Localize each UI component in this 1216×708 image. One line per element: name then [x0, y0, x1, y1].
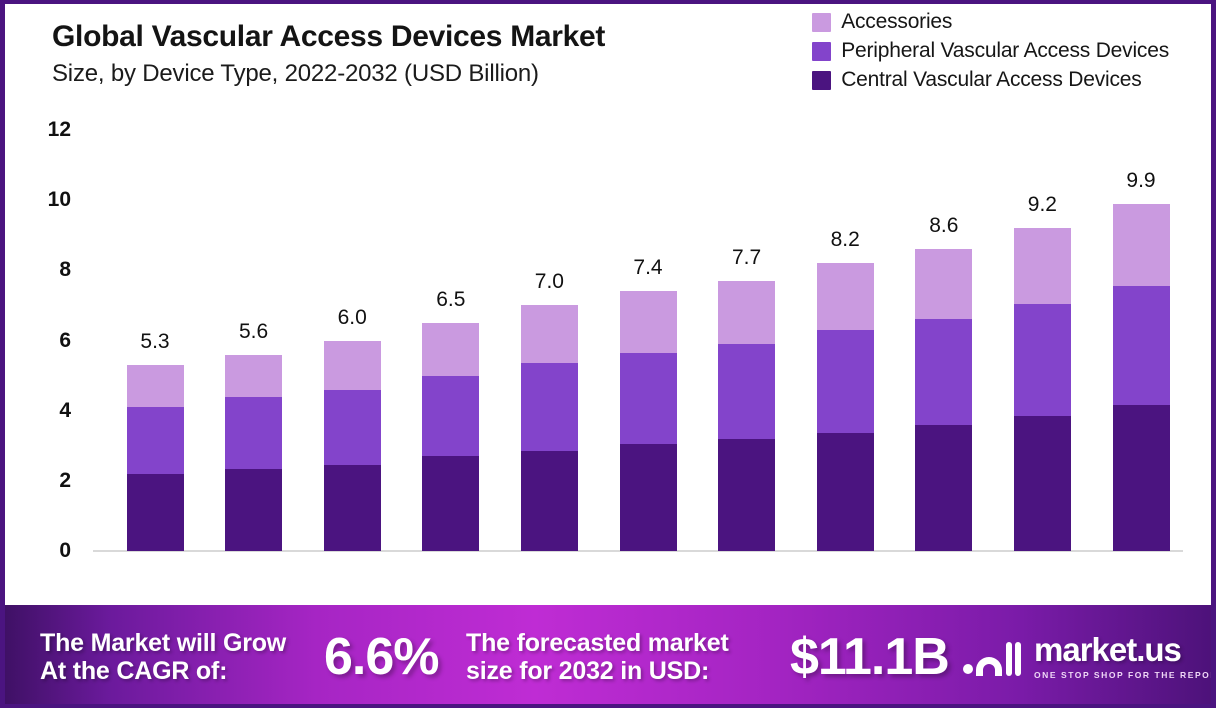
forecast-size-label-line1: The forecasted market	[466, 629, 729, 657]
bar-segment[interactable]	[620, 444, 677, 551]
bar-group[interactable]: 9.2	[1014, 130, 1071, 551]
bar-segment[interactable]	[521, 363, 578, 451]
brand-name: market.us	[1034, 633, 1181, 666]
cagr-label: The Market will Grow At the CAGR of:	[40, 629, 286, 685]
bar-value-label: 6.0	[338, 306, 367, 330]
bar-segment[interactable]	[718, 439, 775, 551]
bar-segment[interactable]	[127, 407, 184, 474]
bar-value-label: 5.3	[140, 330, 169, 354]
bar-group[interactable]: 8.6	[915, 130, 972, 551]
bar-segment[interactable]	[324, 341, 381, 390]
bar-segment[interactable]	[817, 330, 874, 433]
market-us-logo-icon	[962, 636, 1024, 678]
bar-value-label: 7.0	[535, 270, 564, 294]
forecast-size-label: The forecasted market size for 2032 in U…	[466, 629, 729, 685]
bar-segment[interactable]	[422, 376, 479, 457]
brand-logo-text: market.us ONE STOP SHOP FOR THE REPORTS	[1034, 633, 1216, 680]
frame-border-left	[0, 0, 5, 708]
bar-group[interactable]: 8.2	[817, 130, 874, 551]
page-subtitle: Size, by Device Type, 2022-2032 (USD Bil…	[52, 60, 539, 88]
bar-segment[interactable]	[915, 319, 972, 424]
legend-item-label: Central Vascular Access Devices	[841, 68, 1141, 92]
bar-segment[interactable]	[422, 323, 479, 376]
chart-canvas: Global Vascular Access Devices Market Si…	[5, 4, 1211, 605]
legend-swatch-icon	[812, 13, 831, 32]
bar-group[interactable]: 7.0	[521, 130, 578, 551]
bar-segment[interactable]	[817, 433, 874, 551]
bar-segment[interactable]	[915, 425, 972, 551]
stacked-bar[interactable]	[1014, 228, 1071, 551]
stacked-bar[interactable]	[521, 305, 578, 551]
bar-value-label: 5.6	[239, 320, 268, 344]
forecast-size-label-line2: size for 2032 in USD:	[466, 657, 729, 685]
bar-group[interactable]: 9.9	[1113, 130, 1170, 551]
bar-segment[interactable]	[324, 465, 381, 551]
bar-segment[interactable]	[1014, 416, 1071, 551]
stacked-bar[interactable]	[817, 263, 874, 551]
plot-area: 5.320225.620236.020246.520257.020267.420…	[93, 130, 1176, 551]
bar-segment[interactable]	[1113, 286, 1170, 405]
bar-segment[interactable]	[718, 344, 775, 439]
bar-segment[interactable]	[521, 305, 578, 363]
frame-border-top	[0, 0, 1216, 4]
legend-swatch-icon	[812, 71, 831, 90]
frame-border-bottom	[0, 704, 1216, 708]
y-axis: 024681012	[5, 130, 85, 551]
cagr-label-line1: The Market will Grow	[40, 629, 286, 657]
bar-segment[interactable]	[1014, 228, 1071, 303]
stacked-bar[interactable]	[422, 323, 479, 551]
bar-group[interactable]: 6.0	[324, 130, 381, 551]
chart-legend: AccessoriesPeripheral Vascular Access De…	[812, 10, 1169, 92]
bar-segment[interactable]	[225, 397, 282, 469]
stacked-bar[interactable]	[620, 291, 677, 551]
forecast-size-value: $11.1B	[790, 627, 949, 687]
bar-group[interactable]: 6.5	[422, 130, 479, 551]
stacked-bar[interactable]	[1113, 204, 1170, 551]
stacked-bar[interactable]	[718, 281, 775, 551]
legend-swatch-icon	[812, 42, 831, 61]
legend-item[interactable]: Central Vascular Access Devices	[812, 68, 1141, 92]
cagr-label-line2: At the CAGR of:	[40, 657, 286, 685]
bar-segment[interactable]	[324, 390, 381, 465]
bar-segment[interactable]	[1113, 204, 1170, 286]
y-axis-tick-label: 8	[59, 258, 71, 282]
stacked-bar[interactable]	[915, 249, 972, 551]
bar-value-label: 8.6	[929, 214, 958, 238]
bar-segment[interactable]	[225, 355, 282, 397]
bar-group[interactable]: 7.4	[620, 130, 677, 551]
page-title: Global Vascular Access Devices Market	[52, 20, 605, 54]
brand-tagline: ONE STOP SHOP FOR THE REPORTS	[1034, 670, 1216, 680]
bar-segment[interactable]	[817, 263, 874, 330]
infographic-root: Global Vascular Access Devices Market Si…	[0, 0, 1216, 708]
cagr-value: 6.6%	[324, 627, 439, 687]
bar-segment[interactable]	[1113, 405, 1170, 551]
y-axis-tick-label: 4	[59, 399, 71, 423]
bar-segment[interactable]	[620, 353, 677, 444]
bar-segment[interactable]	[718, 281, 775, 344]
legend-item-label: Accessories	[841, 10, 952, 34]
bar-group[interactable]: 5.6	[225, 130, 282, 551]
legend-item-label: Peripheral Vascular Access Devices	[841, 39, 1169, 63]
stacked-bar[interactable]	[225, 355, 282, 551]
frame-border-right	[1211, 0, 1216, 708]
bar-value-label: 9.9	[1126, 169, 1155, 193]
footer-banner: The Market will Grow At the CAGR of: 6.6…	[0, 605, 1216, 708]
legend-item[interactable]: Peripheral Vascular Access Devices	[812, 39, 1169, 63]
bar-value-label: 8.2	[831, 228, 860, 252]
y-axis-tick-label: 6	[59, 329, 71, 353]
bar-segment[interactable]	[225, 469, 282, 551]
bar-value-label: 7.7	[732, 246, 761, 270]
bar-group[interactable]: 5.3	[127, 130, 184, 551]
bar-segment[interactable]	[127, 365, 184, 407]
bar-value-label: 6.5	[436, 288, 465, 312]
stacked-bar[interactable]	[127, 365, 184, 551]
bar-segment[interactable]	[1014, 304, 1071, 416]
bar-segment[interactable]	[127, 474, 184, 551]
y-axis-tick-label: 2	[59, 469, 71, 493]
legend-item[interactable]: Accessories	[812, 10, 952, 34]
bar-segment[interactable]	[521, 451, 578, 551]
bar-segment[interactable]	[620, 291, 677, 352]
bar-segment[interactable]	[422, 456, 479, 551]
y-axis-tick-label: 0	[59, 539, 71, 563]
stacked-bar[interactable]	[324, 341, 381, 551]
bar-value-label: 7.4	[633, 256, 662, 280]
y-axis-tick-label: 10	[48, 188, 71, 212]
bar-segment[interactable]	[915, 249, 972, 319]
brand-logo[interactable]: market.us ONE STOP SHOP FOR THE REPORTS	[962, 633, 1216, 680]
y-axis-tick-label: 12	[48, 118, 71, 142]
bar-value-label: 9.2	[1028, 193, 1057, 217]
bar-group[interactable]: 7.7	[718, 130, 775, 551]
